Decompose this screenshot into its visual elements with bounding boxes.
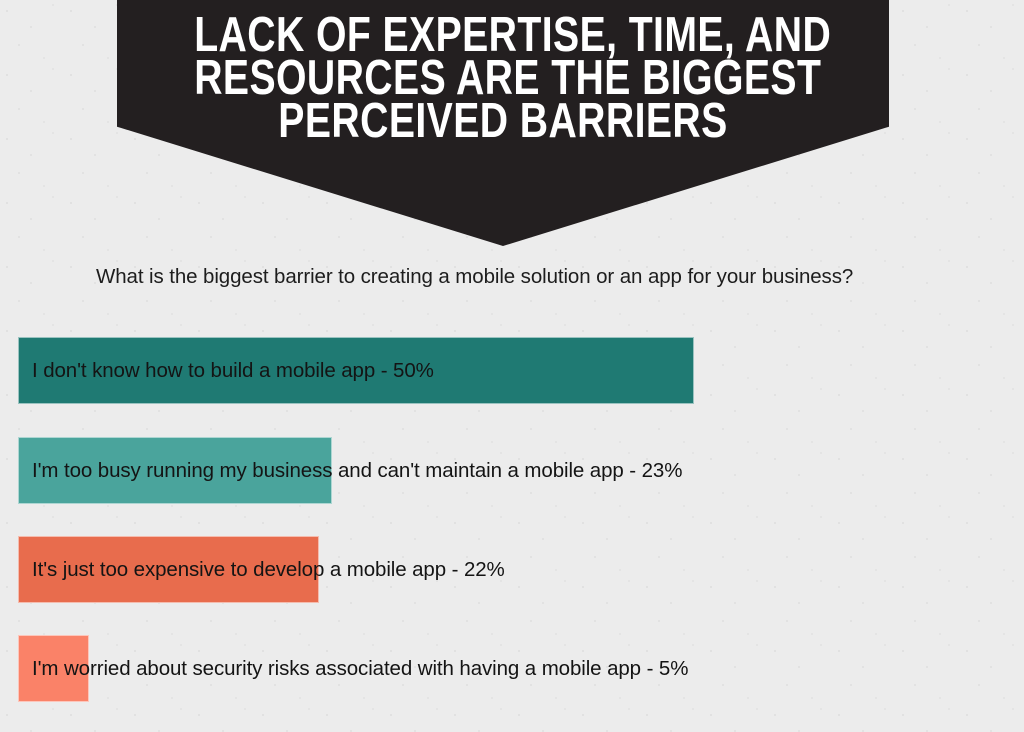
barrier-bar-chart: I don't know how to build a mobile app -… bbox=[0, 0, 1024, 732]
bar-label-2: It's just too expensive to develop a mob… bbox=[32, 536, 505, 603]
bar-label-3: I'm worried about security risks associa… bbox=[32, 635, 688, 702]
bar-label-0: I don't know how to build a mobile app -… bbox=[32, 337, 434, 404]
bar-label-1: I'm too busy running my business and can… bbox=[32, 437, 682, 504]
